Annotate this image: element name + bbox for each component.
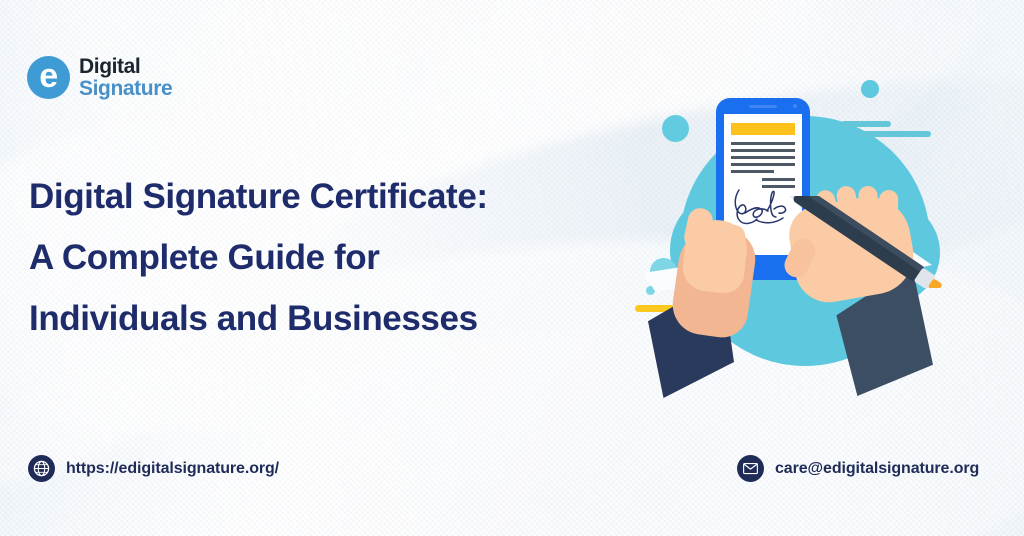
decorative-teal-line-2	[856, 131, 931, 137]
logo-word-signature: Signature	[79, 78, 172, 99]
document-text-line	[731, 149, 795, 152]
envelope-icon	[737, 455, 764, 482]
illustration-alt-text: Hands holding a smartphone and signing a…	[0, 0, 1, 1]
document-text-line	[731, 142, 795, 145]
logo-word-digital: Digital	[79, 56, 172, 77]
pen-icon	[758, 196, 982, 288]
phone-speaker-icon	[749, 105, 777, 108]
decorative-circle-2	[861, 80, 879, 98]
logo-mark-letter: e	[39, 59, 57, 93]
page-title-line-3: Individuals and Businesses	[29, 288, 488, 349]
brand-logo[interactable]: e Digital Signature	[27, 56, 172, 99]
hero-illustration	[620, 60, 1024, 412]
document-text-line	[731, 170, 774, 173]
phone-camera-icon	[793, 104, 797, 108]
page-title: Digital Signature Certificate: A Complet…	[29, 166, 488, 349]
logo-e-icon: e	[27, 56, 70, 99]
document-text-line	[731, 156, 795, 159]
logo-wordmark: Digital Signature	[79, 56, 172, 99]
page-title-line-2: A Complete Guide for	[29, 227, 488, 288]
banner-canvas: e Digital Signature Digital Signature Ce…	[0, 0, 1024, 536]
email-address-text: care@edigitalsignature.org	[775, 460, 979, 478]
document-text-line	[731, 163, 795, 166]
page-title-line-1: Digital Signature Certificate:	[29, 166, 488, 227]
decorative-circle-1	[662, 115, 689, 142]
website-url-text: https://edigitalsignature.org/	[66, 460, 279, 478]
email-link[interactable]: care@edigitalsignature.org	[737, 455, 979, 482]
globe-icon	[28, 455, 55, 482]
decorative-teal-line-1	[841, 121, 891, 127]
document-text-line	[762, 178, 795, 181]
document-header-bar	[731, 123, 795, 135]
website-link[interactable]: https://edigitalsignature.org/	[28, 455, 279, 482]
